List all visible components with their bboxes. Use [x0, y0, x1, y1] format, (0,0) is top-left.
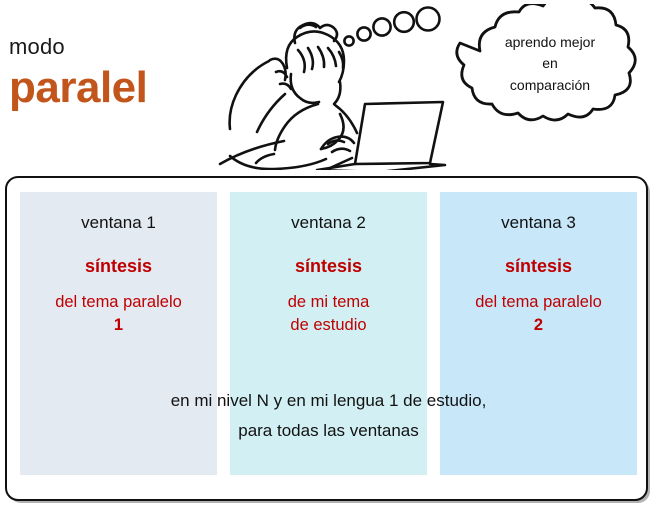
thought-bubble-line-2: en — [466, 53, 634, 74]
window-2-desc-line-2: de estudio — [230, 314, 427, 337]
window-column-3[interactable]: ventana 3 síntesis del tema paralelo 2 — [440, 192, 637, 475]
window-1-description: del tema paralelo 1 — [20, 291, 217, 338]
header-section: modo paralel — [0, 0, 657, 175]
thought-bubble-line-3: comparación — [466, 75, 634, 96]
window-column-1-content: ventana 1 síntesis del tema paralelo 1 — [20, 213, 217, 338]
windows-columns: ventana 1 síntesis del tema paralelo 1 v… — [20, 192, 637, 475]
window-column-2[interactable]: ventana 2 síntesis de mi tema de estudio — [230, 192, 427, 475]
window-1-desc-line-1: del tema paralelo — [20, 291, 217, 314]
window-3-synthesis-label: síntesis — [440, 256, 637, 278]
window-column-2-content: ventana 2 síntesis de mi tema de estudio — [230, 213, 427, 338]
window-2-description: de mi tema de estudio — [230, 291, 427, 338]
window-2-desc-line-1: de mi tema — [230, 291, 427, 314]
window-1-label: ventana 1 — [20, 213, 217, 233]
window-2-synthesis-label: síntesis — [230, 256, 427, 278]
window-column-1[interactable]: ventana 1 síntesis del tema paralelo 1 — [20, 192, 217, 475]
window-1-desc-number: 1 — [20, 314, 217, 337]
mode-title: paralel — [9, 66, 147, 110]
mode-label: modo — [9, 34, 65, 60]
windows-panel-frame: ventana 1 síntesis del tema paralelo 1 v… — [5, 176, 648, 501]
window-3-desc-number: 2 — [440, 314, 637, 337]
window-column-3-content: ventana 3 síntesis del tema paralelo 2 — [440, 213, 637, 338]
window-1-synthesis-label: síntesis — [20, 256, 217, 278]
thought-bubble-text: aprendo mejor en comparación — [466, 32, 634, 96]
window-3-label: ventana 3 — [440, 213, 637, 233]
window-3-description: del tema paralelo 2 — [440, 291, 637, 338]
thought-bubble-line-1: aprendo mejor — [466, 32, 634, 53]
window-3-desc-line-1: del tema paralelo — [440, 291, 637, 314]
person-studying-at-laptop-illustration — [212, 0, 462, 170]
window-2-label: ventana 2 — [230, 213, 427, 233]
